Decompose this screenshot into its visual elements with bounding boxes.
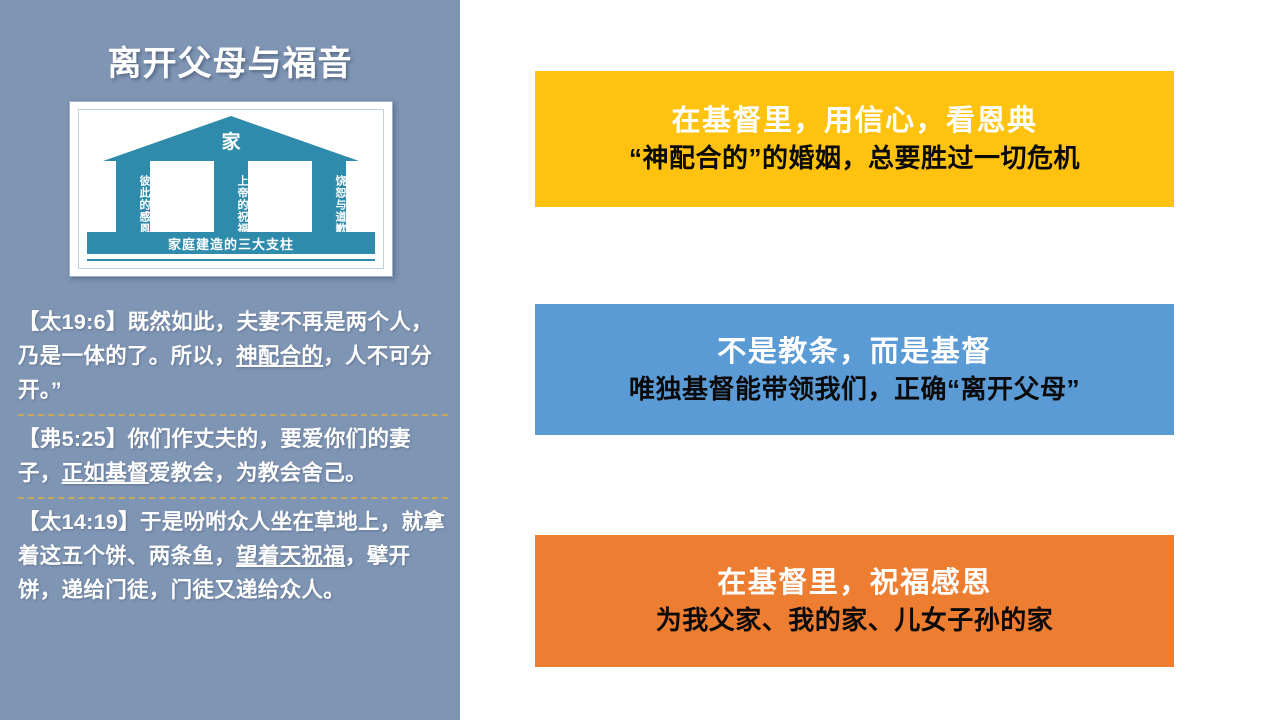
- presentation-slide: 离开父母与福音 家 彼此的感恩 上帝的祝福 饶恕与道歉 家庭建造的三大支柱 【太…: [0, 0, 1280, 720]
- sidebar-panel: 离开父母与福音 家 彼此的感恩 上帝的祝福 饶恕与道歉 家庭建造的三大支柱 【太…: [0, 0, 460, 720]
- callout-secondary-line: 唯独基督能带领我们，正确“离开父母”: [629, 371, 1080, 407]
- verse-emphasis: 正如基督: [62, 461, 149, 485]
- callout-box-yellow: 在基督里，用信心，看恩典 “神配合的”的婚姻，总要胜过一切危机: [535, 71, 1174, 207]
- diagram-canvas: 家 彼此的感恩 上帝的祝福 饶恕与道歉 家庭建造的三大支柱: [78, 109, 384, 269]
- verse-emphasis: 望着天祝福: [236, 544, 345, 568]
- callout-secondary-line: 为我父家、我的家、儿女子孙的家: [656, 602, 1054, 638]
- verse-emphasis: 神配合的: [236, 344, 323, 368]
- callout-box-blue: 不是教条，而是基督 唯独基督能带领我们，正确“离开父母”: [535, 304, 1174, 435]
- verse-item: 【太14:19】于是吩咐众人坐在草地上，就拿着这五个饼、两条鱼，望着天祝福，擘开…: [18, 505, 448, 607]
- diagram-base-rule: [87, 259, 375, 261]
- verse-text-after: 爱教会，为教会舍己。: [149, 461, 367, 485]
- callout-primary-line: 不是教条，而是基督: [717, 333, 992, 371]
- diagram-base-label: 家庭建造的三大支柱: [87, 232, 375, 254]
- verse-reference: 【太14:19】: [18, 510, 140, 534]
- callout-secondary-line: “神配合的”的婚姻，总要胜过一切危机: [629, 140, 1080, 176]
- roof-label: 家: [221, 127, 240, 154]
- callout-box-orange: 在基督里，祝福感恩 为我父家、我的家、儿女子孙的家: [535, 535, 1174, 667]
- verse-divider: [18, 414, 448, 416]
- verse-reference: 【太19:6】: [18, 310, 128, 334]
- family-pillars-diagram: 家 彼此的感恩 上帝的祝福 饶恕与道歉 家庭建造的三大支柱: [69, 101, 393, 277]
- verse-divider: [18, 497, 448, 499]
- verse-item: 【弗5:25】你们作丈夫的，要爱你们的妻子，正如基督爱教会，为教会舍己。: [18, 422, 448, 490]
- callout-primary-line: 在基督里，祝福感恩: [717, 564, 992, 602]
- verse-reference: 【弗5:25】: [18, 427, 128, 451]
- scripture-list: 【太19:6】既然如此，夫妻不再是两个人，乃是一体的了。所以，神配合的，人不可分…: [18, 305, 448, 607]
- page-title: 离开父母与福音: [0, 36, 460, 85]
- verse-item: 【太19:6】既然如此，夫妻不再是两个人，乃是一体的了。所以，神配合的，人不可分…: [18, 305, 448, 407]
- callout-primary-line: 在基督里，用信心，看恩典: [671, 102, 1037, 140]
